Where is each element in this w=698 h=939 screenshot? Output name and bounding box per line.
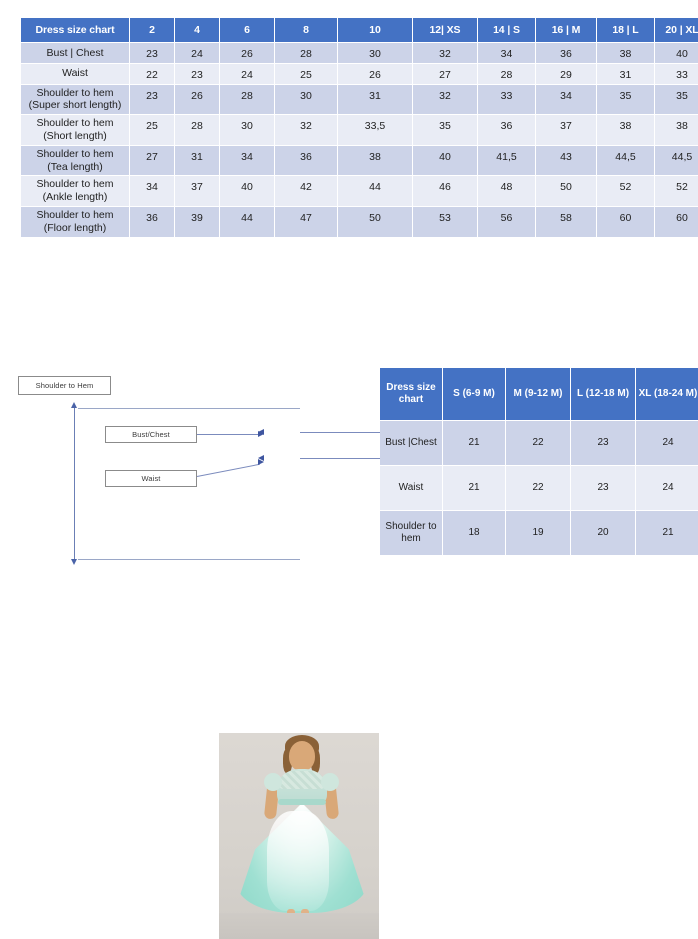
cell-value: 40 [655,43,698,63]
model-head [289,741,315,771]
cell-value: 29 [536,64,596,84]
cell-value: 22 [506,421,570,465]
cell-value: 26 [220,43,274,63]
table-row: Shoulder to hem (Ankle length) 34 37 40 … [21,176,698,206]
cell-value: 60 [597,207,654,237]
header-cell-size-4: 4 [175,18,219,42]
row-label-waist: Waist [380,466,442,510]
cell-value: 40 [220,176,274,206]
cell-value: 20 [571,511,635,555]
cell-value: 31 [175,146,219,176]
cell-value: 23 [571,466,635,510]
cell-value: 33 [655,64,698,84]
dress-sleeve-right [321,773,339,791]
cell-value: 44,5 [597,146,654,176]
row-label-bust-chest: Bust | Chest [21,43,129,63]
cell-value: 30 [220,115,274,145]
cell-value: 25 [275,64,337,84]
baby-size-chart-table: Dress size chart S (6-9 M) M (9-12 M) L … [379,367,698,556]
cell-value: 24 [636,466,698,510]
cell-value: 23 [130,43,174,63]
dress-sleeve-left [264,773,282,791]
cell-value: 24 [175,43,219,63]
cell-value: 28 [478,64,535,84]
cell-value: 50 [536,176,596,206]
row-label-waist: Waist [21,64,129,84]
leader-arrow-waist-left-icon [258,455,264,461]
table-row: Shoulder to hem (Tea length) 27 31 34 36… [21,146,698,176]
table-row: Waist 21 22 23 24 [380,466,698,510]
header-cell-size-20-xl: 20 | XL [655,18,698,42]
cell-value: 36 [130,207,174,237]
cell-value: 24 [220,64,274,84]
table-row: Shoulder to hem (Short length) 25 28 30 … [21,115,698,145]
header-cell-size-16-m: 16 | M [536,18,596,42]
row-label-shoulder-to-hem-super-short: Shoulder to hem (Super short length) [21,85,129,115]
cell-value: 21 [443,466,505,510]
cell-value: 38 [338,146,412,176]
dress-lace-detail [279,771,325,789]
leader-line-waist-right [300,458,386,459]
cell-value: 36 [275,146,337,176]
table-header-row: Dress size chart 2 4 6 8 10 12| XS 14 | … [21,18,698,42]
cell-value: 34 [130,176,174,206]
table-row: Shoulder to hem (Super short length) 23 … [21,85,698,115]
table-header-row: Dress size chart S (6-9 M) M (9-12 M) L … [380,368,698,420]
cell-value: 28 [275,43,337,63]
cell-value: 44,5 [655,146,698,176]
cell-value: 38 [597,43,654,63]
cell-value: 21 [443,421,505,465]
callout-bust-chest: Bust/Chest [105,426,197,443]
cell-value: 23 [571,421,635,465]
cell-value: 58 [536,207,596,237]
header-cell-size-2: 2 [130,18,174,42]
baby-chart-header: Dress size chart S (6-9 M) M (9-12 M) L … [380,368,698,420]
header-cell-size-18-l: 18 | L [597,18,654,42]
cell-value: 34 [478,43,535,63]
cell-value: 34 [536,85,596,115]
cell-value: 18 [443,511,505,555]
header-cell-size-10: 10 [338,18,412,42]
cell-value: 48 [478,176,535,206]
leader-arrow-bust-left-icon [258,429,264,435]
cell-value: 30 [338,43,412,63]
cell-value: 26 [175,85,219,115]
cell-value: 28 [220,85,274,115]
callout-shoulder-to-hem: Shoulder to Hem [18,376,111,395]
cell-value: 32 [413,85,477,115]
cell-value: 33,5 [338,115,412,145]
cell-value: 19 [506,511,570,555]
header-cell-size-m: M (9-12 M) [506,368,570,420]
cell-value: 35 [655,85,698,115]
cell-value: 36 [478,115,535,145]
cell-value: 24 [636,421,698,465]
cell-value: 26 [338,64,412,84]
cell-value: 38 [597,115,654,145]
row-label-shoulder-to-hem-ankle: Shoulder to hem (Ankle length) [21,176,129,206]
row-label-shoulder-to-hem-tea: Shoulder to hem (Tea length) [21,146,129,176]
callout-waist: Waist [105,470,197,487]
header-cell-size-14-s: 14 | S [478,18,535,42]
cell-value: 41,5 [478,146,535,176]
table-row: Bust |Chest 21 22 23 24 [380,421,698,465]
cell-value: 38 [655,115,698,145]
cell-value: 36 [536,43,596,63]
header-cell-chart-title: Dress size chart [21,18,129,42]
guide-line-top [78,408,300,409]
cell-value: 28 [175,115,219,145]
cell-value: 46 [413,176,477,206]
cell-value: 37 [536,115,596,145]
cell-value: 35 [597,85,654,115]
table-row: Waist 22 23 24 25 26 27 28 29 31 33 [21,64,698,84]
cell-value: 44 [338,176,412,206]
dress-skirt-highlight [267,811,329,911]
table-row: Shoulder to hem 18 19 20 21 [380,511,698,555]
cell-value: 53 [413,207,477,237]
cell-value: 32 [413,43,477,63]
cell-value: 50 [338,207,412,237]
cell-value: 25 [130,115,174,145]
cell-value: 33 [478,85,535,115]
cell-value: 32 [275,115,337,145]
cell-value: 52 [655,176,698,206]
baby-chart-body: Bust |Chest 21 22 23 24 Waist 21 22 23 2… [380,421,698,555]
photo-floor [219,913,379,939]
cell-value: 22 [506,466,570,510]
header-cell-size-s: S (6-9 M) [443,368,505,420]
shoulder-to-hem-arrow-icon [74,407,75,560]
cell-value: 60 [655,207,698,237]
cell-value: 27 [130,146,174,176]
header-cell-size-8: 8 [275,18,337,42]
cell-value: 43 [536,146,596,176]
header-cell-size-6: 6 [220,18,274,42]
cell-value: 39 [175,207,219,237]
row-label-bust-chest: Bust |Chest [380,421,442,465]
header-cell-chart-title: Dress size chart [380,368,442,420]
table-row: Bust | Chest 23 24 26 28 30 32 34 36 38 … [21,43,698,63]
header-cell-size-l: L (12-18 M) [571,368,635,420]
cell-value: 23 [175,64,219,84]
row-label-shoulder-to-hem-floor: Shoulder to hem (Floor length) [21,207,129,237]
cell-value: 35 [413,115,477,145]
header-cell-size-xl: XL (18-24 M) [636,368,698,420]
cell-value: 52 [597,176,654,206]
main-size-chart-table: Dress size chart 2 4 6 8 10 12| XS 14 | … [20,17,698,238]
cell-value: 21 [636,511,698,555]
cell-value: 30 [275,85,337,115]
cell-value: 31 [597,64,654,84]
row-label-shoulder-to-hem-short: Shoulder to hem (Short length) [21,115,129,145]
cell-value: 44 [220,207,274,237]
table-row: Shoulder to hem (Floor length) 36 39 44 … [21,207,698,237]
cell-value: 22 [130,64,174,84]
dress-photo [219,733,379,939]
cell-value: 34 [220,146,274,176]
cell-value: 37 [175,176,219,206]
cell-value: 27 [413,64,477,84]
cell-value: 40 [413,146,477,176]
main-chart-header: Dress size chart 2 4 6 8 10 12| XS 14 | … [21,18,698,42]
cell-value: 47 [275,207,337,237]
leader-line-bust-right [300,432,386,433]
header-cell-size-12-xs: 12| XS [413,18,477,42]
measurement-diagram: Shoulder to Hem Bust/Chest Waist [0,366,380,574]
leader-line-waist [197,464,260,477]
cell-value: 42 [275,176,337,206]
cell-value: 56 [478,207,535,237]
main-chart-body: Bust | Chest 23 24 26 28 30 32 34 36 38 … [21,43,698,237]
guide-line-bottom [78,559,300,560]
dress-waist-sash [278,799,326,805]
leader-line-bust [197,434,259,435]
row-label-shoulder-to-hem: Shoulder to hem [380,511,442,555]
cell-value: 23 [130,85,174,115]
cell-value: 31 [338,85,412,115]
